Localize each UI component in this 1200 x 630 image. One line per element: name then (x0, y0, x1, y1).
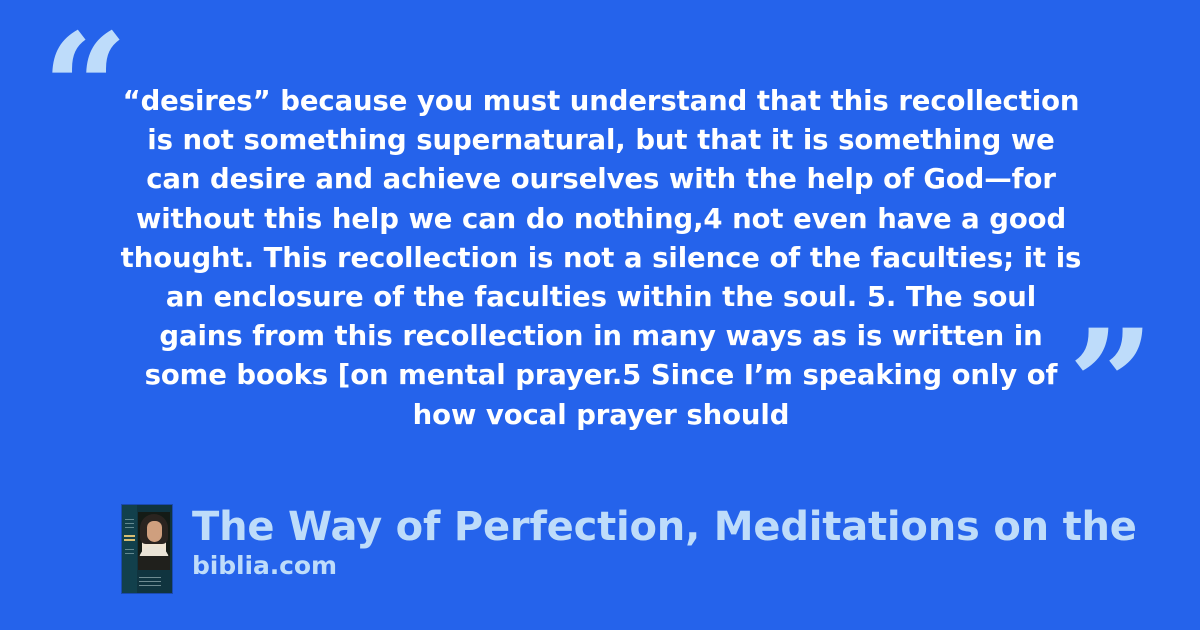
cover-spine-line (125, 523, 134, 524)
cover-footer-line (139, 577, 161, 578)
cover-spine-title (124, 539, 135, 541)
close-quote-icon: ” (1068, 310, 1154, 460)
cover-footer-line (139, 581, 161, 582)
cover-spine-title (124, 535, 135, 537)
quote-text: “desires” because you must understand th… (120, 82, 1082, 435)
quote-block: “desires” because you must understand th… (120, 82, 1082, 435)
portrait-face (147, 521, 162, 542)
footer-text-group: The Way of Perfection, Meditations on th… (192, 505, 1137, 581)
cover-spine-line (125, 553, 134, 554)
cover-footer-line (139, 585, 161, 586)
open-quote-icon: “ (42, 14, 128, 164)
cover-spine-line (125, 519, 134, 520)
quote-card: “ “desires” because you must understand … (0, 0, 1200, 630)
footer: The Way of Perfection, Meditations on th… (122, 505, 1137, 593)
portrait-shoulder (138, 556, 170, 570)
site-name-link[interactable]: biblia.com (192, 551, 1137, 581)
book-cover-thumbnail[interactable] (122, 505, 172, 593)
book-title: The Way of Perfection, Meditations on th… (192, 505, 1137, 549)
cover-portrait-image (138, 512, 170, 570)
cover-spine-line (125, 549, 134, 550)
cover-spine-line (125, 527, 134, 528)
